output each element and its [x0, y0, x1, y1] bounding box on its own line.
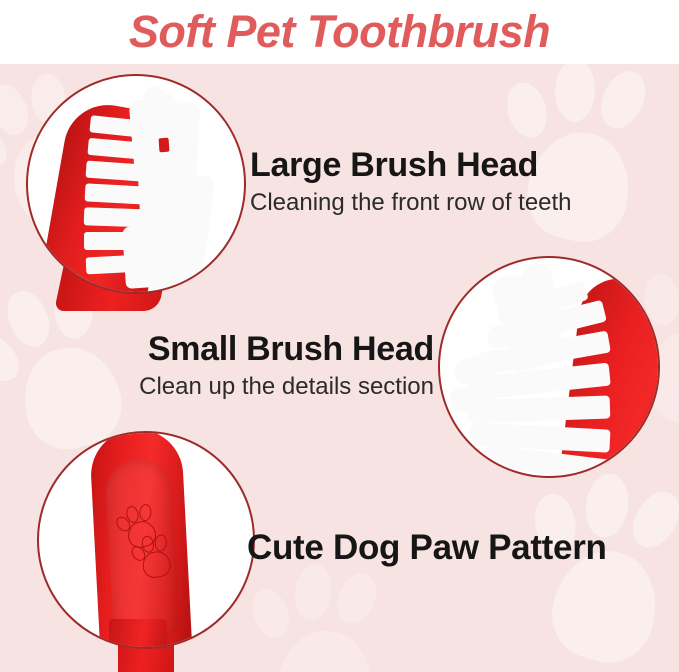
feature-label-large-brush-head: Large Brush Head Cleaning the front row …: [250, 148, 572, 215]
photo-small-brush-head: [438, 256, 660, 478]
paw-print-icon: [235, 550, 407, 672]
feature-label-small-brush-head: Small Brush Head Clean up the details se…: [0, 332, 434, 399]
header-band: Soft Pet Toothbrush: [0, 0, 679, 64]
bristle-gap-detail: [159, 138, 170, 153]
infographic-page: Soft Pet Toothbrush Large Brush Head Cle…: [0, 0, 679, 672]
feature-subtitle: Clean up the details section: [0, 375, 434, 399]
feature-title: Small Brush Head: [0, 332, 434, 366]
feature-title: Cute Dog Paw Pattern: [247, 530, 607, 565]
photo-paw-pattern-handle: [37, 431, 255, 649]
feature-title: Large Brush Head: [250, 148, 572, 182]
embossed-paw-icon: [128, 530, 177, 583]
page-title: Soft Pet Toothbrush: [129, 9, 550, 54]
photo-large-brush-head: [26, 74, 246, 294]
feature-subtitle: Cleaning the front row of teeth: [250, 191, 572, 215]
handle-neck: [109, 619, 167, 649]
feature-label-cute-dog-paw-pattern: Cute Dog Paw Pattern: [247, 530, 607, 565]
